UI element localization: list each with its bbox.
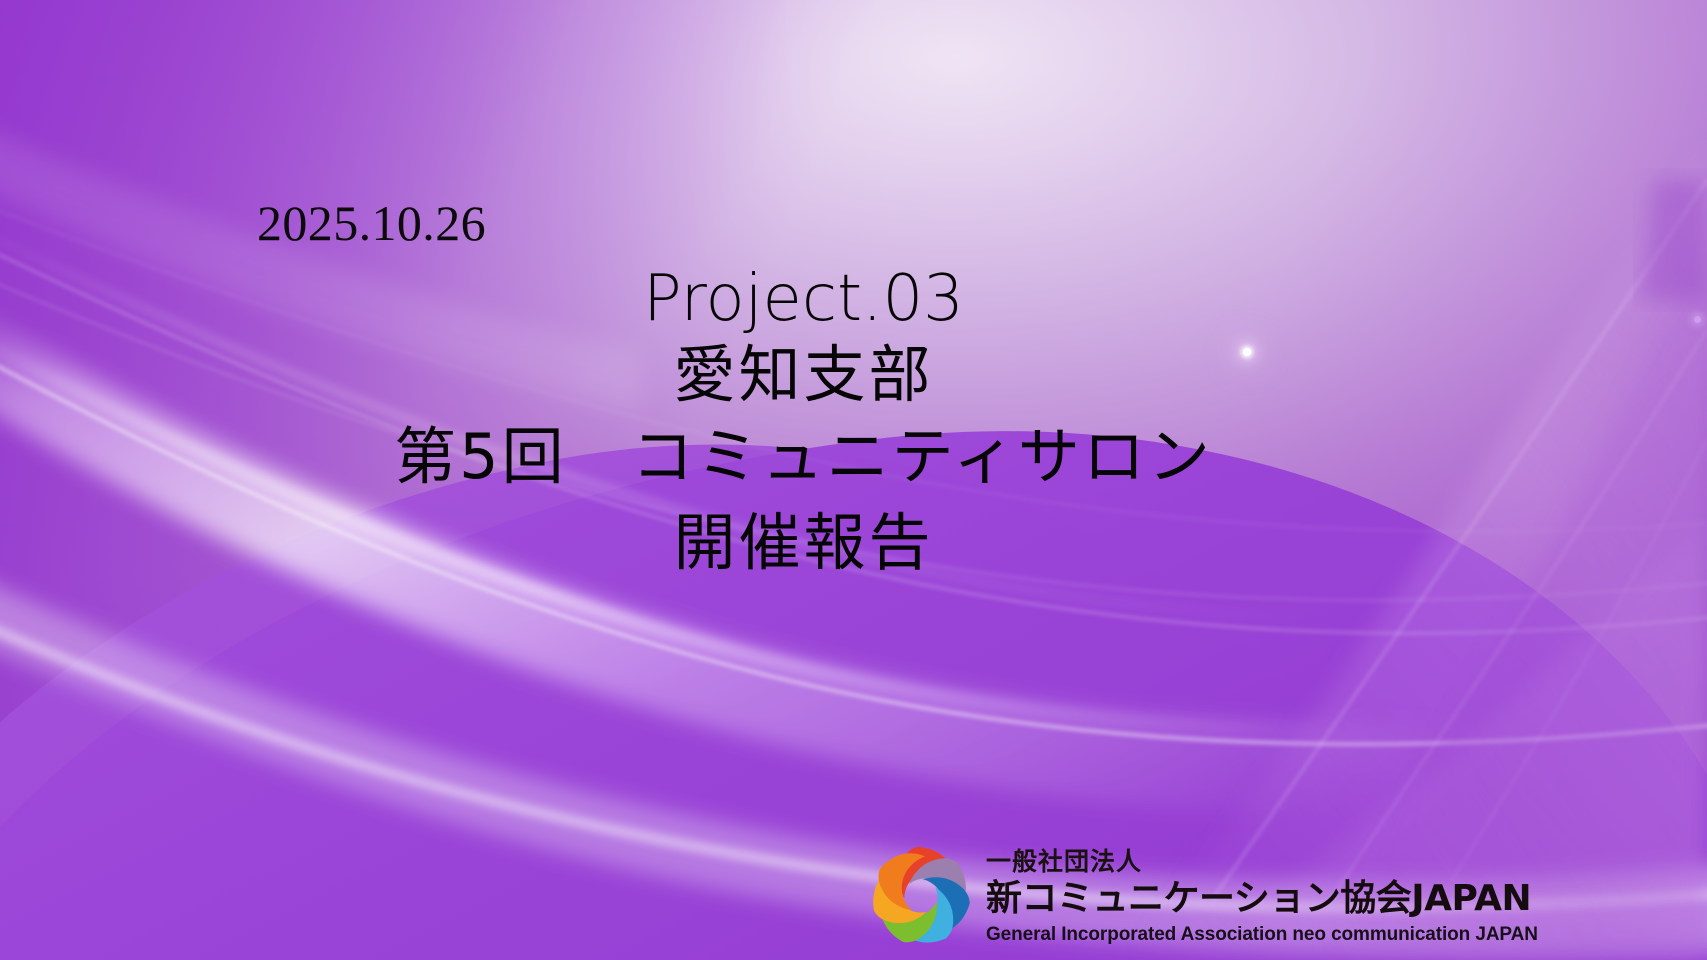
pinwheel-people-logo-icon bbox=[862, 840, 980, 952]
branch-name: 愛知支部 bbox=[0, 336, 1707, 414]
presentation-slide: 2025.10.26 Project.03 愛知支部 第5回 コミュニティサロン… bbox=[0, 0, 1707, 960]
report-label: 開催報告 bbox=[0, 500, 1707, 586]
org-name-english: General Incorporated Association neo com… bbox=[986, 923, 1434, 947]
organization-logo: 一般社団法人 新コミュニケーション協会JAPAN General Incorpo… bbox=[790, 752, 1430, 952]
org-prefix: 一般社団法人 bbox=[986, 848, 1434, 876]
slide-title-block: Project.03 愛知支部 第5回 コミュニティサロン 開催報告 bbox=[0, 262, 1707, 586]
event-name: 第5回 コミュニティサロン bbox=[0, 414, 1707, 500]
event-date: 2025.10.26 bbox=[257, 198, 486, 248]
project-title: Project.03 bbox=[0, 262, 1707, 336]
org-name: 新コミュニケーション協会JAPAN bbox=[986, 877, 1434, 921]
organization-logo-text: 一般社団法人 新コミュニケーション協会JAPAN General Incorpo… bbox=[986, 848, 1434, 947]
